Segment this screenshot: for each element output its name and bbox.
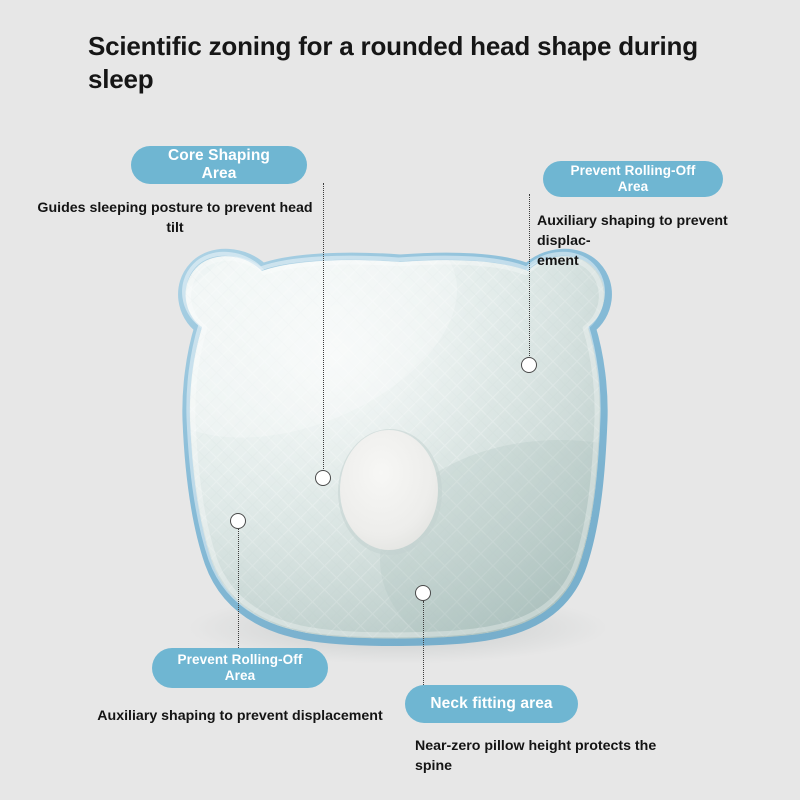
callout-pill-prevent-rolling-off-bottom[interactable]: Prevent Rolling-Off Area xyxy=(152,648,328,688)
callout-pill-core-shaping-area[interactable]: Core Shaping Area xyxy=(131,146,307,184)
infographic-canvas: Scientific zoning for a rounded head sha… xyxy=(0,0,800,800)
callout-dot-prevent-rolling-off-top xyxy=(521,357,537,373)
callout-caption-core-shaping-area: Guides sleeping posture to prevent head … xyxy=(34,198,316,238)
connector-line-neck-fitting-area xyxy=(423,601,424,685)
connector-line-prevent-rolling-off-top xyxy=(529,194,530,366)
callout-pill-neck-fitting-area[interactable]: Neck fitting area xyxy=(405,685,578,723)
callout-caption-prevent-rolling-off-bottom: Auxiliary shaping to prevent displacemen… xyxy=(60,706,420,726)
callout-caption-neck-fitting-area: Near-zero pillow height protects the spi… xyxy=(415,736,677,776)
connector-line-core-shaping-area xyxy=(323,183,324,471)
product-illustration xyxy=(0,0,800,800)
page-title: Scientific zoning for a rounded head sha… xyxy=(88,30,728,97)
callout-dot-prevent-rolling-off-bottom xyxy=(230,513,246,529)
callout-dot-neck-fitting-area xyxy=(415,585,431,601)
callout-pill-prevent-rolling-off-top[interactable]: Prevent Rolling-Off Area xyxy=(543,161,723,197)
callout-caption-prevent-rolling-off-top: Auxiliary shaping to prevent displac- em… xyxy=(537,211,755,271)
connector-line-prevent-rolling-off-bottom xyxy=(238,529,239,648)
callout-dot-core-shaping-area xyxy=(315,470,331,486)
